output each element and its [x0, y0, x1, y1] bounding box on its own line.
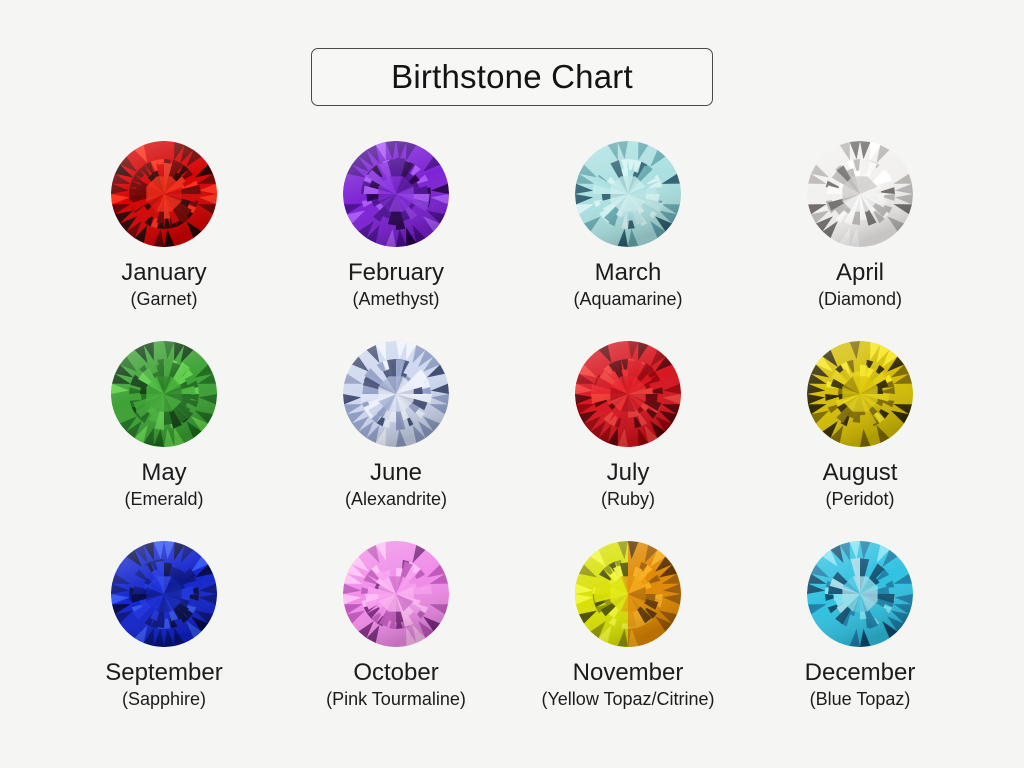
stone-label: (Alexandrite): [345, 490, 447, 509]
stone-label: (Pink Tourmaline): [326, 690, 466, 709]
gem-icon: [806, 140, 914, 248]
stone-label: (Blue Topaz): [810, 690, 911, 709]
page-title: Birthstone Chart: [391, 58, 633, 96]
stone-label: (Diamond): [818, 290, 902, 309]
birthstone-cell-march: March(Aquamarine): [512, 140, 744, 340]
month-label: April: [836, 260, 884, 285]
month-label: March: [595, 260, 662, 285]
gem-icon: [574, 140, 682, 248]
gem-icon: [342, 140, 450, 248]
month-label: September: [105, 660, 222, 685]
gem-icon: [110, 140, 218, 248]
month-label: January: [121, 260, 206, 285]
month-label: August: [823, 460, 898, 485]
birthstone-cell-february: February(Amethyst): [280, 140, 512, 340]
gem-icon: [110, 540, 218, 648]
birthstone-grid: January(Garnet)February(Amethyst)March(A…: [48, 140, 976, 740]
gem-icon-split: [574, 540, 682, 648]
month-label: July: [607, 460, 650, 485]
stone-label: (Garnet): [130, 290, 197, 309]
month-label: November: [573, 660, 684, 685]
birthstone-cell-september: September(Sapphire): [48, 540, 280, 740]
gem-icon: [110, 340, 218, 448]
birthstone-cell-january: January(Garnet): [48, 140, 280, 340]
birthstone-cell-december: December(Blue Topaz): [744, 540, 976, 740]
gem-icon: [342, 540, 450, 648]
stone-label: (Amethyst): [352, 290, 439, 309]
birthstone-cell-august: August(Peridot): [744, 340, 976, 540]
stone-label: (Aquamarine): [573, 290, 682, 309]
birthstone-cell-november: November(Yellow Topaz/Citrine): [512, 540, 744, 740]
gem-icon: [806, 540, 914, 648]
gem-icon: [806, 340, 914, 448]
stone-label: (Sapphire): [122, 690, 206, 709]
stone-label: (Peridot): [825, 490, 894, 509]
stone-label: (Ruby): [601, 490, 655, 509]
birthstone-cell-july: July(Ruby): [512, 340, 744, 540]
month-label: December: [805, 660, 916, 685]
birthstone-cell-may: May(Emerald): [48, 340, 280, 540]
month-label: June: [370, 460, 422, 485]
birthstone-cell-april: April(Diamond): [744, 140, 976, 340]
month-label: October: [353, 660, 438, 685]
title-box: Birthstone Chart: [311, 48, 713, 106]
stone-label: (Emerald): [124, 490, 203, 509]
gem-icon: [342, 340, 450, 448]
title-bar: Birthstone Chart: [0, 48, 1024, 106]
stone-label: (Yellow Topaz/Citrine): [541, 690, 714, 709]
birthstone-cell-june: June(Alexandrite): [280, 340, 512, 540]
gem-icon: [574, 340, 682, 448]
month-label: May: [141, 460, 186, 485]
month-label: February: [348, 260, 444, 285]
birthstone-cell-october: October(Pink Tourmaline): [280, 540, 512, 740]
